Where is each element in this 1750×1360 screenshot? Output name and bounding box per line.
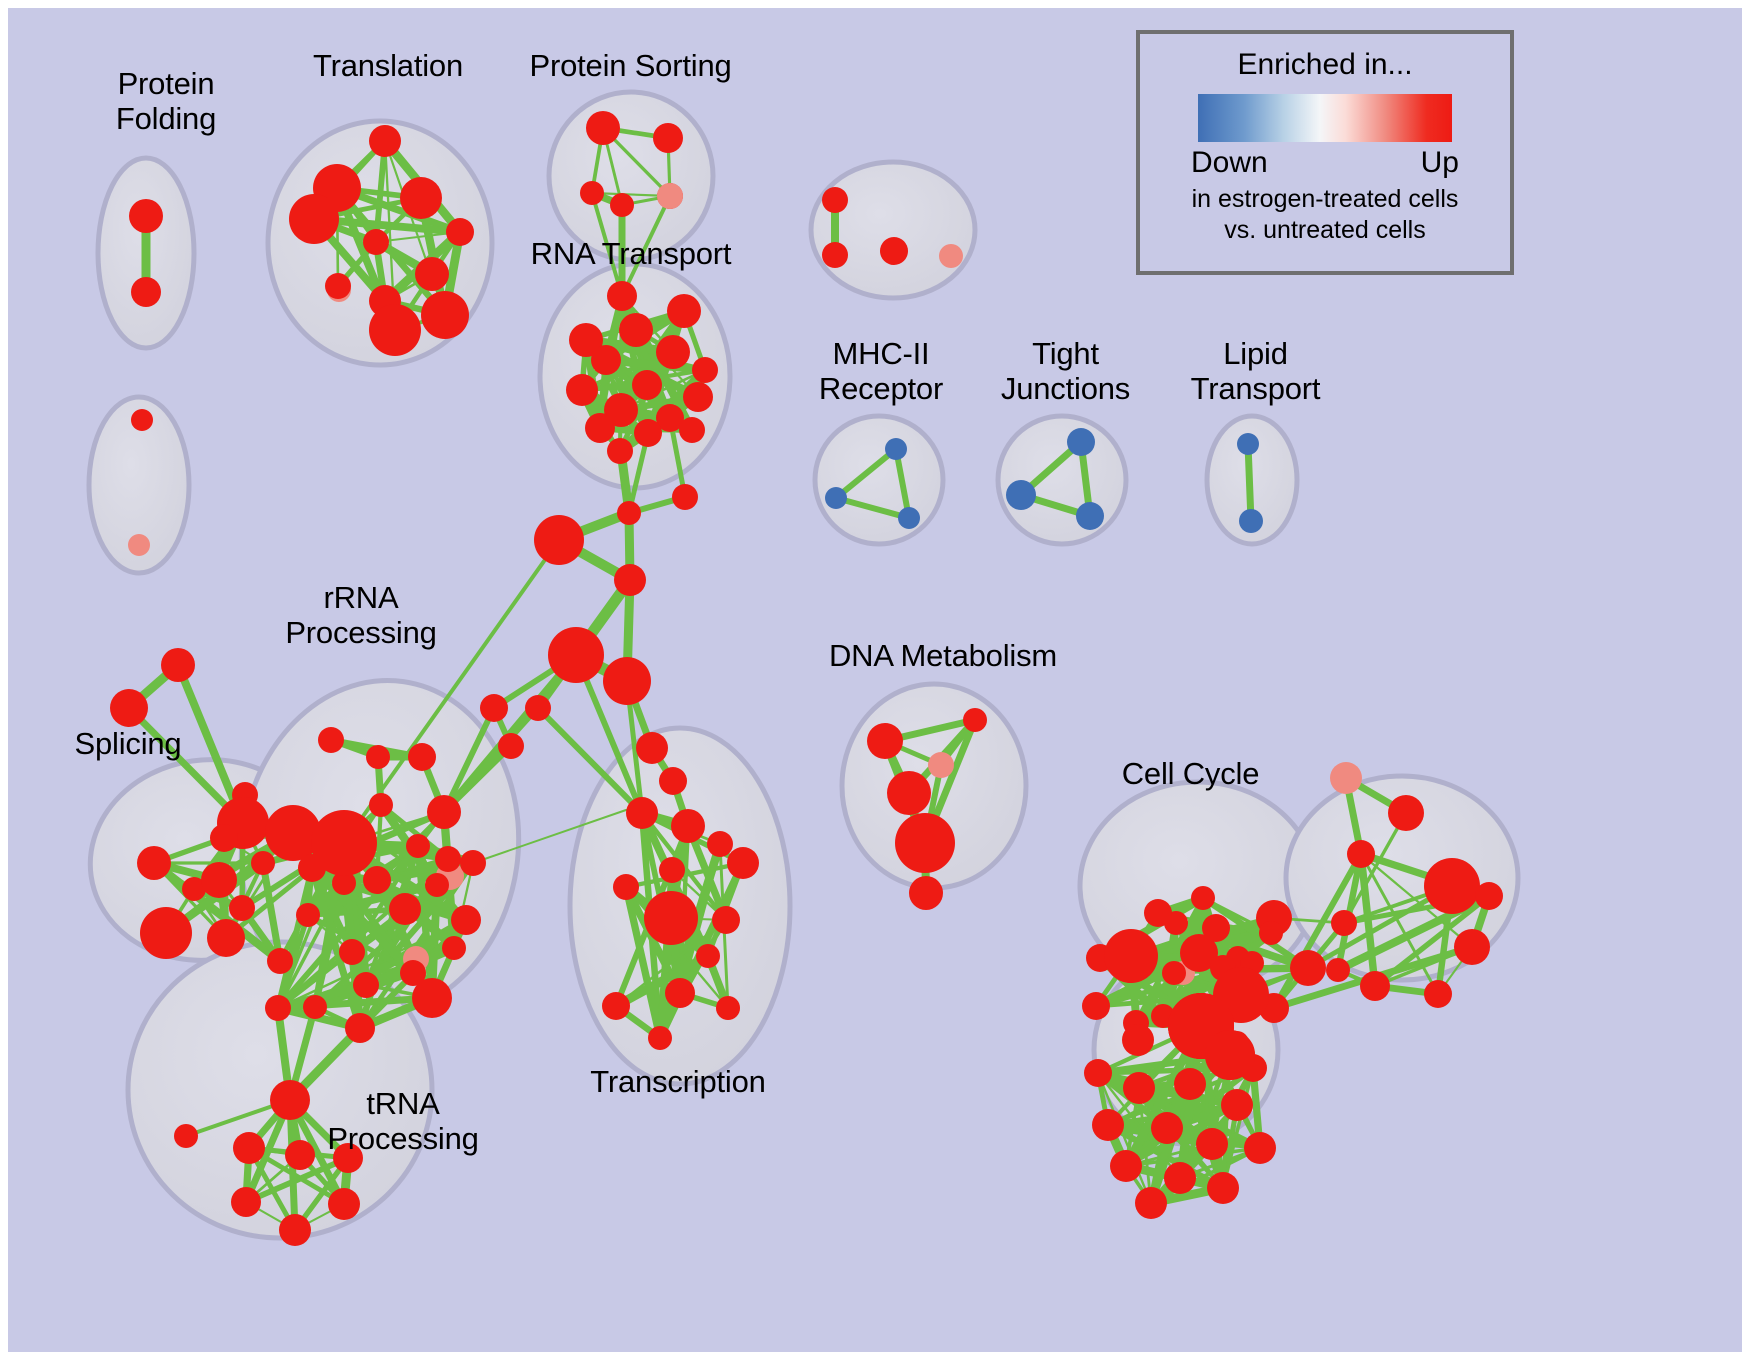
network-node[interactable]	[1191, 886, 1215, 910]
cluster-blob	[815, 416, 943, 544]
network-node[interactable]	[607, 438, 633, 464]
network-node[interactable]	[1330, 762, 1362, 794]
network-node[interactable]	[822, 187, 848, 213]
network-node[interactable]	[1424, 858, 1480, 914]
network-node[interactable]	[265, 995, 291, 1021]
network-node[interactable]	[895, 813, 955, 873]
network-node[interactable]	[279, 1214, 311, 1246]
network-node[interactable]	[233, 1132, 265, 1164]
network-node[interactable]	[425, 873, 449, 897]
legend-caption-line-1: in estrogen-treated cells	[1140, 184, 1510, 215]
network-node[interactable]	[498, 733, 524, 759]
network-node[interactable]	[1290, 950, 1326, 986]
network-node[interactable]	[648, 1026, 672, 1050]
network-node[interactable]	[345, 1013, 375, 1043]
network-node[interactable]	[1067, 428, 1095, 456]
network-node[interactable]	[613, 874, 639, 900]
cluster-blob	[998, 416, 1126, 544]
network-node[interactable]	[339, 939, 365, 965]
network-node[interactable]	[1164, 1162, 1196, 1194]
network-node[interactable]	[603, 657, 651, 705]
cluster-label-dna-metabolism: DNA Metabolism	[818, 638, 1068, 673]
network-node[interactable]	[369, 304, 421, 356]
network-node[interactable]	[1331, 910, 1357, 936]
network-node[interactable]	[887, 771, 931, 815]
network-node[interactable]	[619, 313, 653, 347]
network-canvas: Protein Folding Translation Protein Sort…	[8, 8, 1742, 1352]
legend-high-label: Up	[1421, 146, 1459, 180]
network-node[interactable]	[328, 1188, 360, 1220]
network-node[interactable]	[296, 903, 320, 927]
network-node[interactable]	[207, 919, 245, 957]
network-node[interactable]	[1259, 921, 1283, 945]
cluster-label-tight-junctions: Tight Junctions	[988, 336, 1143, 406]
network-node[interactable]	[1151, 1112, 1183, 1144]
network-node[interactable]	[566, 374, 598, 406]
cluster-label-lipid-transport: Lipid Transport	[1178, 336, 1333, 406]
network-node[interactable]	[607, 281, 637, 311]
network-node[interactable]	[727, 847, 759, 879]
network-node[interactable]	[412, 978, 452, 1018]
network-node[interactable]	[1475, 882, 1503, 910]
network-node[interactable]	[1110, 1150, 1142, 1182]
network-node[interactable]	[303, 995, 327, 1019]
network-node[interactable]	[707, 831, 733, 857]
network-node[interactable]	[1123, 1072, 1155, 1104]
figure-root: Protein Folding Translation Protein Sort…	[0, 0, 1750, 1360]
network-node[interactable]	[634, 419, 662, 447]
legend-title: Enriched in...	[1140, 48, 1510, 82]
network-node[interactable]	[696, 944, 720, 968]
network-node[interactable]	[131, 277, 161, 307]
network-node[interactable]	[460, 850, 486, 876]
network-node[interactable]	[683, 382, 713, 412]
network-node[interactable]	[1162, 961, 1186, 985]
network-node[interactable]	[363, 229, 389, 255]
network-node[interactable]	[644, 891, 698, 945]
network-node[interactable]	[1221, 1089, 1253, 1121]
network-node[interactable]	[585, 413, 615, 443]
network-node[interactable]	[1104, 929, 1158, 983]
network-node[interactable]	[548, 627, 604, 683]
network-node[interactable]	[657, 183, 683, 209]
network-node[interactable]	[636, 732, 668, 764]
network-node[interactable]	[716, 996, 740, 1020]
network-node[interactable]	[201, 862, 237, 898]
network-node[interactable]	[591, 345, 621, 375]
network-node[interactable]	[659, 857, 685, 883]
network-node[interactable]	[1084, 1059, 1112, 1087]
cluster-label-rna-transport: RNA Transport	[516, 236, 746, 271]
network-node[interactable]	[1454, 929, 1490, 965]
network-node[interactable]	[129, 199, 163, 233]
network-node[interactable]	[1076, 502, 1104, 530]
network-node[interactable]	[435, 846, 461, 872]
cluster-label-protein-folding: Protein Folding	[86, 66, 246, 136]
network-node[interactable]	[389, 893, 421, 925]
legend-caption-line-2: vs. untreated cells	[1140, 215, 1510, 246]
network-node[interactable]	[653, 123, 683, 153]
network-node[interactable]	[679, 417, 705, 443]
legend-low-label: Down	[1191, 146, 1268, 180]
network-node[interactable]	[415, 257, 449, 291]
cluster-label-trna-processing: tRNA Processing	[308, 1086, 498, 1156]
network-node[interactable]	[289, 194, 339, 244]
network-node[interactable]	[137, 846, 171, 880]
network-node[interactable]	[270, 1080, 310, 1120]
network-node[interactable]	[880, 237, 908, 265]
network-node[interactable]	[1082, 992, 1110, 1020]
network-node[interactable]	[665, 978, 695, 1008]
cluster-blob	[549, 92, 713, 260]
network-node[interactable]	[885, 438, 907, 460]
network-node[interactable]	[672, 484, 698, 510]
network-node[interactable]	[131, 409, 153, 431]
network-node[interactable]	[427, 795, 461, 829]
network-node[interactable]	[580, 181, 604, 205]
network-node[interactable]	[626, 797, 658, 829]
network-node[interactable]	[128, 534, 150, 556]
network-node[interactable]	[712, 906, 740, 934]
network-node[interactable]	[909, 876, 943, 910]
legend-panel: Enriched in... Down Up in estrogen-treat…	[1136, 30, 1514, 275]
network-node[interactable]	[1144, 899, 1172, 927]
network-node[interactable]	[659, 767, 687, 795]
network-node[interactable]	[446, 218, 474, 246]
network-node[interactable]	[822, 242, 848, 268]
network-node[interactable]	[610, 193, 634, 217]
network-node[interactable]	[1237, 433, 1259, 455]
network-node[interactable]	[1122, 1024, 1154, 1056]
cluster-label-translation: Translation	[298, 48, 478, 83]
network-node[interactable]	[525, 695, 551, 721]
network-node[interactable]	[1092, 1109, 1124, 1141]
network-node[interactable]	[898, 507, 920, 529]
network-node[interactable]	[602, 992, 630, 1020]
network-node[interactable]	[318, 727, 344, 753]
network-node[interactable]	[311, 810, 377, 876]
network-node[interactable]	[406, 834, 430, 858]
network-node[interactable]	[1347, 840, 1375, 868]
network-node[interactable]	[939, 244, 963, 268]
network-node[interactable]	[692, 357, 718, 383]
network-node[interactable]	[1244, 1132, 1276, 1164]
cluster-label-splicing: Splicing	[63, 726, 193, 761]
network-node[interactable]	[667, 294, 701, 328]
network-node[interactable]	[400, 177, 442, 219]
network-node[interactable]	[421, 291, 469, 339]
network-node[interactable]	[586, 111, 620, 145]
network-node[interactable]	[963, 708, 987, 732]
network-node[interactable]	[617, 501, 641, 525]
network-node[interactable]	[928, 752, 954, 778]
network-node[interactable]	[353, 972, 379, 998]
network-node[interactable]	[229, 895, 255, 921]
network-node[interactable]	[614, 564, 646, 596]
network-node[interactable]	[442, 936, 466, 960]
legend-caption: in estrogen-treated cells vs. untreated …	[1140, 184, 1510, 246]
network-node[interactable]	[825, 487, 847, 509]
network-node[interactable]	[366, 745, 390, 769]
network-node[interactable]	[451, 905, 481, 935]
network-node[interactable]	[1388, 795, 1424, 831]
network-node[interactable]	[1202, 914, 1230, 942]
network-node[interactable]	[867, 723, 903, 759]
network-node[interactable]	[1239, 509, 1263, 533]
network-node[interactable]	[1196, 1128, 1228, 1160]
network-node[interactable]	[231, 1187, 261, 1217]
network-node[interactable]	[408, 743, 436, 771]
network-node[interactable]	[534, 515, 584, 565]
network-node[interactable]	[267, 948, 293, 974]
network-node[interactable]	[1006, 480, 1036, 510]
network-node[interactable]	[210, 824, 238, 852]
cluster-label-mhcii-receptor: MHC-II Receptor	[801, 336, 961, 406]
cluster-label-cell-cycle: Cell Cycle	[1108, 756, 1273, 791]
cluster-label-protein-sorting: Protein Sorting	[513, 48, 748, 83]
network-node[interactable]	[632, 370, 662, 400]
legend-color-gradient	[1198, 94, 1452, 142]
network-node[interactable]	[1135, 1187, 1167, 1219]
network-node[interactable]	[1424, 980, 1452, 1008]
network-node[interactable]	[480, 694, 508, 722]
network-node[interactable]	[161, 648, 195, 682]
network-node[interactable]	[140, 907, 192, 959]
network-node[interactable]	[1174, 1068, 1206, 1100]
network-node[interactable]	[671, 809, 705, 843]
network-node[interactable]	[369, 125, 401, 157]
network-node[interactable]	[1205, 1030, 1255, 1080]
network-node[interactable]	[110, 689, 148, 727]
network-node[interactable]	[1207, 1172, 1239, 1204]
legend-endpoints: Down Up	[1191, 146, 1459, 180]
network-node[interactable]	[656, 335, 690, 369]
network-node[interactable]	[325, 273, 351, 299]
network-node[interactable]	[251, 851, 275, 875]
network-node[interactable]	[369, 793, 393, 817]
cluster-label-transcription: Transcription	[578, 1064, 778, 1099]
network-node[interactable]	[1326, 958, 1350, 982]
cluster-label-rrna-processing: rRNA Processing	[266, 580, 456, 650]
network-node[interactable]	[1360, 971, 1390, 1001]
network-node[interactable]	[363, 866, 391, 894]
network-node[interactable]	[174, 1124, 198, 1148]
